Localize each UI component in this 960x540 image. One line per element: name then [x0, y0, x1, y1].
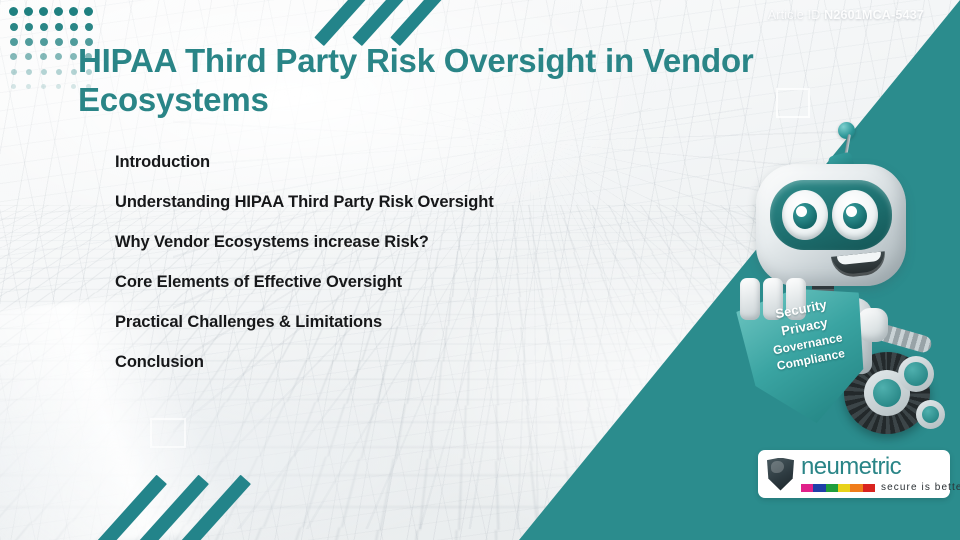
logo-color-segment: [850, 484, 862, 492]
robot-eye-left-icon: [782, 190, 828, 240]
robot-mouth-icon: [831, 251, 887, 279]
robot-roller-icon-b: [916, 400, 945, 429]
logo-color-segment: [863, 484, 875, 492]
slide-title: HIPAA Third Party Risk Oversight in Vend…: [78, 42, 868, 119]
agenda-item-understanding: Understanding HIPAA Third Party Risk Ove…: [115, 182, 635, 222]
article-id: Article ID N2601MCA-5437: [768, 8, 924, 22]
agenda-item-why-vendor: Why Vendor Ecosystems increase Risk?: [115, 222, 635, 262]
decorative-square-outline-bottom: [150, 418, 186, 448]
diagonal-stripes-top: [326, 0, 456, 46]
logo-text-block: neumetric secure is better: [801, 455, 960, 493]
robot-eye-right-icon: [832, 190, 878, 240]
neumetric-logo[interactable]: neumetric secure is better: [758, 450, 950, 498]
agenda-list: Introduction Understanding HIPAA Third P…: [115, 142, 635, 382]
robot-teeth-icon: [837, 252, 882, 266]
agenda-item-conclusion: Conclusion: [115, 342, 635, 382]
logo-tagline: secure is better: [881, 482, 960, 493]
article-id-value: N2601MCA-5437: [824, 8, 924, 22]
agenda-item-introduction: Introduction: [115, 142, 635, 182]
diagonal-stripes-bottom: [116, 462, 296, 540]
logo-wordmark: neumetric: [801, 455, 960, 479]
robot-eye-glint-left-icon: [796, 206, 807, 217]
logo-color-bar-icon: [801, 484, 875, 492]
presentation-slide: Article ID N2601MCA-5437 HIPAA Third Par…: [0, 0, 960, 540]
robot-roller-icon-a: [898, 356, 934, 392]
robot-visor-icon: [770, 180, 892, 250]
logo-color-segment: [826, 484, 838, 492]
robot-head-icon: [756, 164, 906, 286]
robot-pupil-right-icon: [843, 203, 867, 229]
logo-color-segment: [838, 484, 850, 492]
robot-eye-glint-right-icon: [846, 206, 857, 217]
logo-color-segment: [801, 484, 813, 492]
agenda-item-challenges: Practical Challenges & Limitations: [115, 302, 635, 342]
article-id-label: Article ID: [768, 8, 821, 22]
logo-color-segment: [813, 484, 825, 492]
robot-pupil-left-icon: [793, 203, 817, 229]
neumetric-shield-icon: [767, 458, 794, 491]
agenda-item-core-elements: Core Elements of Effective Oversight: [115, 262, 635, 302]
robot-mascot-illustration: Security Privacy Governance Compliance: [726, 112, 960, 432]
logo-bottom-row: secure is better: [801, 482, 960, 493]
